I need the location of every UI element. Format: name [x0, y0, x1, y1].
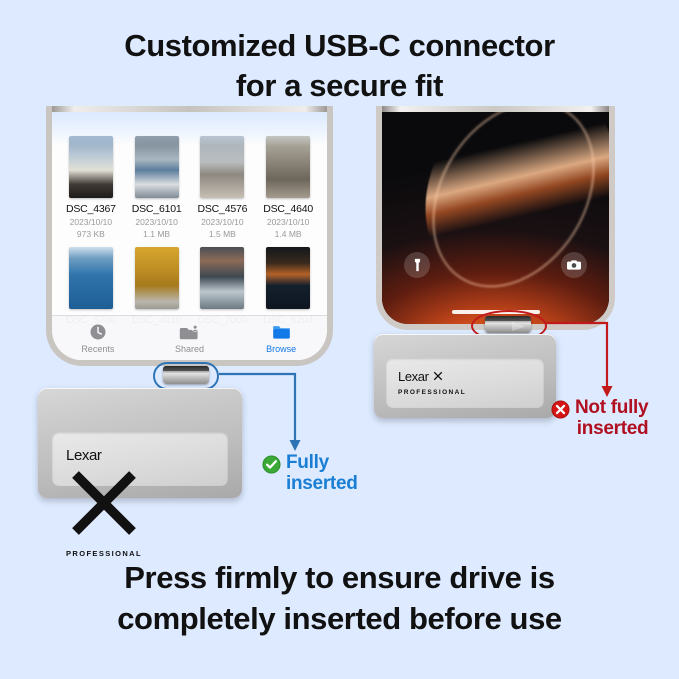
file-size: 1.1 MB [143, 229, 170, 239]
callout-line-1: Not fully [575, 397, 648, 418]
file-name: DSC_4576 [197, 203, 247, 215]
folder-icon [271, 322, 292, 342]
callout-fully-inserted: Fully inserted [262, 452, 377, 495]
file-name: DSC_6101 [132, 203, 182, 215]
file-thumbnail [135, 136, 179, 198]
callout-text: Fully inserted [286, 452, 358, 495]
file-thumbnail [135, 247, 179, 309]
callout-text: Not fully inserted [575, 397, 648, 440]
file-size: 1.4 MB [275, 229, 302, 239]
sub-brand: PROFESSIONAL [398, 389, 466, 396]
file-item-dsc4576[interactable]: DSC_4576 2023/10/10 1.5 MB [190, 136, 256, 239]
poster-canvas: Customized USB-C connector for a secure … [0, 0, 679, 679]
check-circle-icon [262, 455, 281, 474]
ssd-label-panel: Lexar PROFESSIONAL [52, 432, 228, 486]
file-thumbnail [69, 247, 113, 309]
brand-name: Lexar [66, 448, 102, 463]
file-thumbnail [69, 136, 113, 198]
file-date: 2023/10/10 [267, 217, 310, 227]
camera-icon [567, 259, 581, 271]
x-circle-icon [551, 400, 570, 419]
file-item-dsc4640[interactable]: DSC_4640 2023/10/10 1.4 MB [255, 136, 321, 239]
callout-line-2: inserted [575, 418, 648, 439]
ssd-drive-right: Lexar PROFESSIONAL [374, 334, 556, 418]
flashlight-button[interactable] [404, 252, 430, 278]
lexar-x-mark [433, 371, 443, 381]
lexar-logo: Lexar PROFESSIONAL [66, 447, 142, 558]
tab-label: Recents [81, 344, 114, 354]
file-thumbnail [200, 247, 244, 309]
left-phone-screen: x 973 KB x 1.1 MB x 1.5 MB x 1.1 MB DSC_… [52, 112, 327, 360]
headline-line-2: for a secure fit [0, 66, 679, 106]
callout-line-1: Fully [286, 452, 358, 473]
tab-browse[interactable]: Browse [236, 322, 327, 354]
tab-label: Browse [266, 344, 296, 354]
file-size: 973 KB [77, 229, 105, 239]
file-size: 1.5 MB [209, 229, 236, 239]
callout-line-2: inserted [286, 473, 358, 494]
clock-icon [88, 322, 108, 342]
file-name: DSC_4640 [263, 203, 313, 215]
file-grid-row-2: DSC_5700 DSC_4010 DSC_7000 DSC_6204 [52, 245, 327, 326]
ssd-drive-left: Lexar PROFESSIONAL [38, 388, 242, 498]
footer-instruction: Press firmly to ensure drive is complete… [0, 558, 679, 640]
left-phone: x 973 KB x 1.1 MB x 1.5 MB x 1.1 MB DSC_… [52, 112, 327, 360]
not-fully-inserted-leader-line [545, 317, 625, 407]
file-thumbnail [200, 136, 244, 198]
ssd-label-panel: Lexar PROFESSIONAL [386, 358, 544, 408]
fully-inserted-highlight [153, 362, 219, 390]
file-item-dsc6101[interactable]: DSC_6101 2023/10/10 1.1 MB [124, 136, 190, 239]
file-thumbnail [266, 136, 310, 198]
flashlight-icon [412, 258, 423, 272]
file-grid-row-1: DSC_4367 2023/10/10 973 KB DSC_6101 2023… [52, 134, 327, 239]
file-thumbnail [266, 247, 310, 309]
lexar-x-mark [66, 465, 142, 541]
tab-recents[interactable]: Recents [52, 322, 143, 354]
right-phone [382, 112, 609, 324]
lexar-logo: Lexar PROFESSIONAL [398, 368, 466, 396]
brand-name: Lexar [398, 370, 429, 383]
file-date: 2023/10/10 [70, 217, 113, 227]
file-name: DSC_4367 [66, 203, 116, 215]
file-date: 2023/10/10 [135, 217, 178, 227]
camera-button[interactable] [561, 252, 587, 278]
page-title: Customized USB-C connector for a secure … [0, 26, 679, 107]
footline-line-2: completely inserted before use [0, 599, 679, 640]
right-phone-screen [382, 112, 609, 324]
files-tab-bar: Recents Shared Browse [52, 315, 327, 360]
file-item-dsc4367[interactable]: DSC_4367 2023/10/10 973 KB [58, 136, 124, 239]
tab-shared[interactable]: Shared [144, 322, 235, 354]
shared-folder-icon [179, 322, 200, 342]
footline-line-1: Press firmly to ensure drive is [0, 558, 679, 599]
tab-label: Shared [175, 344, 204, 354]
sub-brand: PROFESSIONAL [66, 549, 142, 558]
headline-line-1: Customized USB-C connector [0, 26, 679, 66]
callout-not-fully-inserted: Not fully inserted [551, 397, 679, 440]
file-date: 2023/10/10 [201, 217, 244, 227]
